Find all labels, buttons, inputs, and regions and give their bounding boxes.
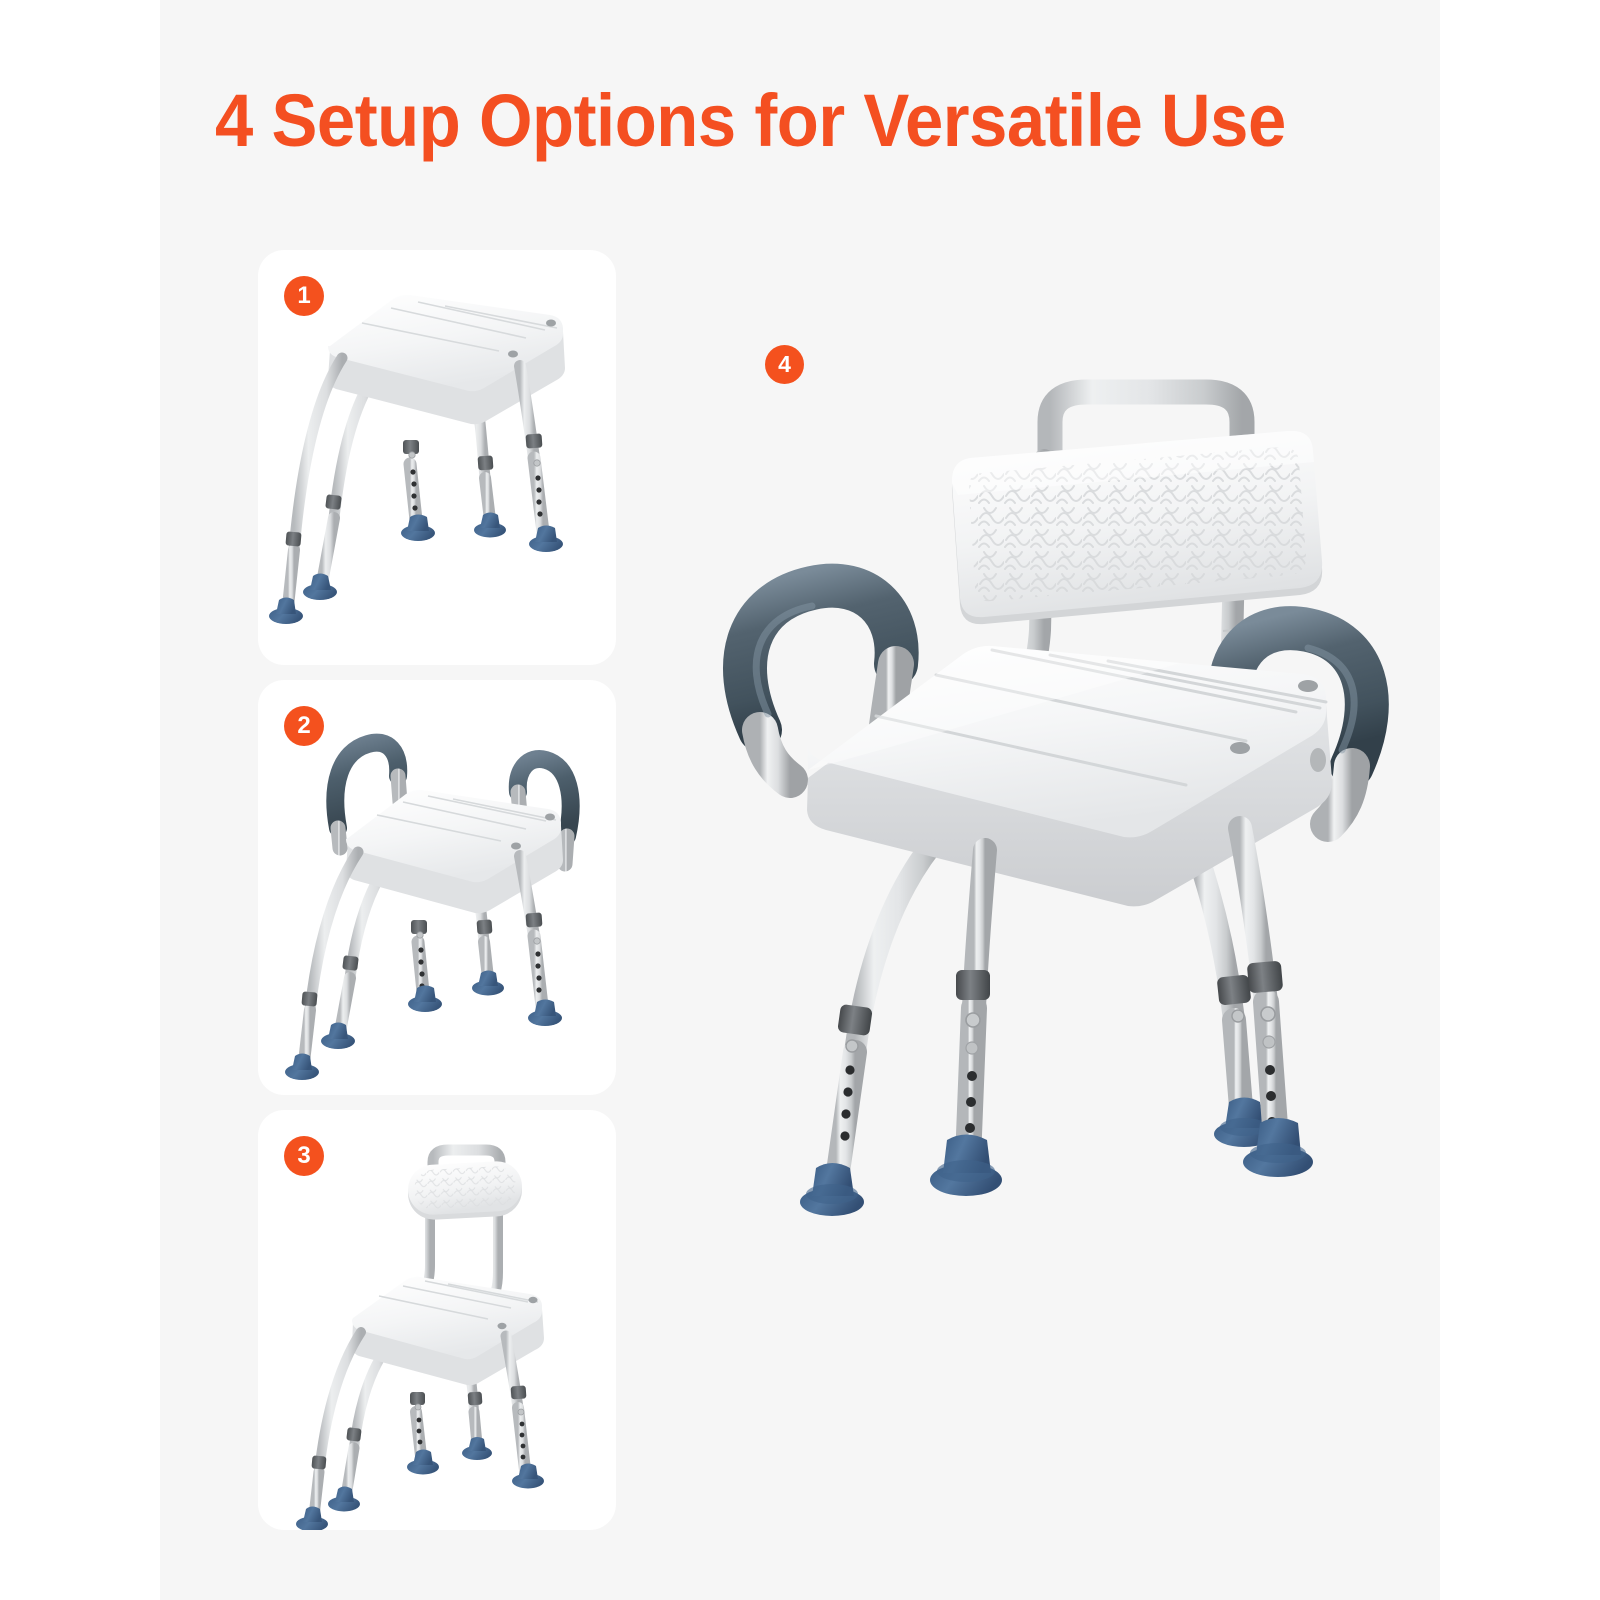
backrest-pad	[407, 1160, 524, 1221]
card-badge-2: 2	[284, 706, 324, 746]
foot-front-left	[930, 1135, 1002, 1197]
card-badge-3: 3	[284, 1136, 324, 1176]
foot-rear-left	[800, 1163, 864, 1216]
page-title: 4 Setup Options for Versatile Use	[215, 82, 1312, 160]
infographic-page: 4 Setup Options for Versatile Use	[0, 0, 1600, 1600]
setup-option-card-3[interactable]: 3	[258, 1110, 616, 1530]
setup-option-card-2[interactable]: 2	[258, 680, 616, 1095]
card-badge-1: 1	[284, 276, 324, 316]
backrest-pad	[952, 431, 1322, 624]
setup-option-card-1[interactable]: 1	[258, 250, 616, 665]
hero-chair-illustration	[640, 330, 1440, 1490]
